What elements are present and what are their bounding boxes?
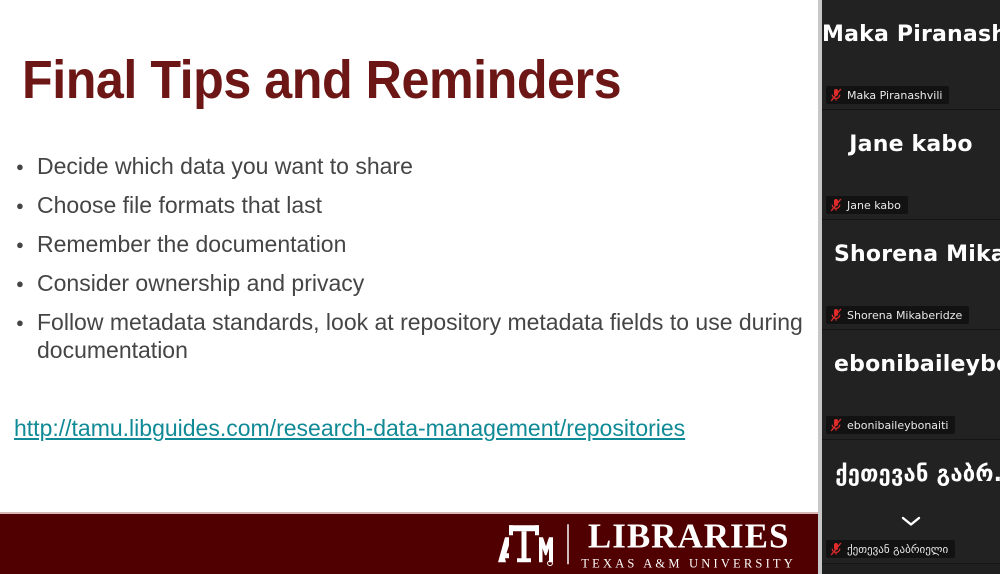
participant-filmstrip[interactable]: Maka Piranashvili Maka Piranashvili Jane… — [822, 0, 1000, 574]
list-item: Follow metadata standards, look at repos… — [16, 308, 816, 364]
logo-divider — [567, 524, 569, 564]
participant-tile[interactable]: ebonibaileybon.. ebonibaileybonaiti — [822, 330, 1000, 440]
participant-display-name: Jane kabo — [822, 132, 1000, 157]
participant-name-label: Shorena Mikaberidze — [847, 309, 962, 322]
tamu-libraries-logo: LIBRARIES TEXAS A&M UNIVERSITY — [493, 518, 796, 570]
participant-name-badge: ebonibaileybonaiti — [826, 416, 955, 434]
list-item: Decide which data you want to share — [16, 152, 816, 180]
mic-muted-icon — [830, 88, 842, 102]
participant-tile[interactable]: Shorena Mikabe.. Shorena Mikaberidze — [822, 220, 1000, 330]
logo-primary-text: LIBRARIES — [588, 518, 790, 553]
logo-secondary-text: TEXAS A&M UNIVERSITY — [581, 557, 796, 570]
texas-am-atm-logo-icon — [493, 522, 555, 566]
mic-muted-icon — [830, 308, 842, 322]
participant-display-name: Shorena Mikabe.. — [834, 242, 1000, 267]
participant-display-name: ebonibaileybon.. — [834, 352, 1000, 377]
mic-muted-icon — [830, 418, 842, 432]
logo-wordmark: LIBRARIES TEXAS A&M UNIVERSITY — [581, 518, 796, 570]
mic-muted-icon — [830, 542, 842, 556]
participant-display-name: Maka Piranashvili — [822, 22, 1000, 47]
participant-name-label: ქეთევან გაბრიელი — [847, 543, 948, 556]
list-item: Choose file formats that last — [16, 191, 816, 219]
participant-tile[interactable]: Jane kabo Jane kabo — [822, 110, 1000, 220]
participant-name-label: ebonibaileybonaiti — [847, 419, 948, 432]
chevron-down-icon — [900, 514, 922, 531]
participant-name-badge: Jane kabo — [826, 196, 908, 214]
list-item: Consider ownership and privacy — [16, 269, 816, 297]
zoom-meeting-window: Final Tips and Reminders Decide which da… — [0, 0, 1000, 574]
participant-name-badge: Shorena Mikaberidze — [826, 306, 969, 324]
mic-muted-icon — [830, 198, 842, 212]
repositories-link[interactable]: http://tamu.libguides.com/research-data-… — [14, 414, 685, 443]
participant-name-label: Maka Piranashvili — [847, 89, 942, 102]
page-title: Final Tips and Reminders — [22, 52, 621, 109]
slide-bullet-list: Decide which data you want to share Choo… — [16, 152, 816, 375]
participant-tile[interactable]: Maka Piranashvili Maka Piranashvili — [822, 0, 1000, 110]
list-item: Remember the documentation — [16, 230, 816, 258]
participant-tile[interactable]: ქეთევან გაბრ.. ქეთევან გაბრიელი — [822, 440, 1000, 564]
participant-display-name: ქეთევან გაბრ.. — [834, 462, 1000, 487]
participant-name-badge: Maka Piranashvili — [826, 86, 949, 104]
participant-name-badge: ქეთევან გაბრიელი — [826, 540, 955, 558]
scroll-down-button[interactable] — [822, 514, 1000, 532]
shared-screen-slide: Final Tips and Reminders Decide which da… — [0, 0, 818, 574]
participant-name-label: Jane kabo — [847, 199, 901, 212]
slide-footer-band: LIBRARIES TEXAS A&M UNIVERSITY — [0, 512, 818, 574]
